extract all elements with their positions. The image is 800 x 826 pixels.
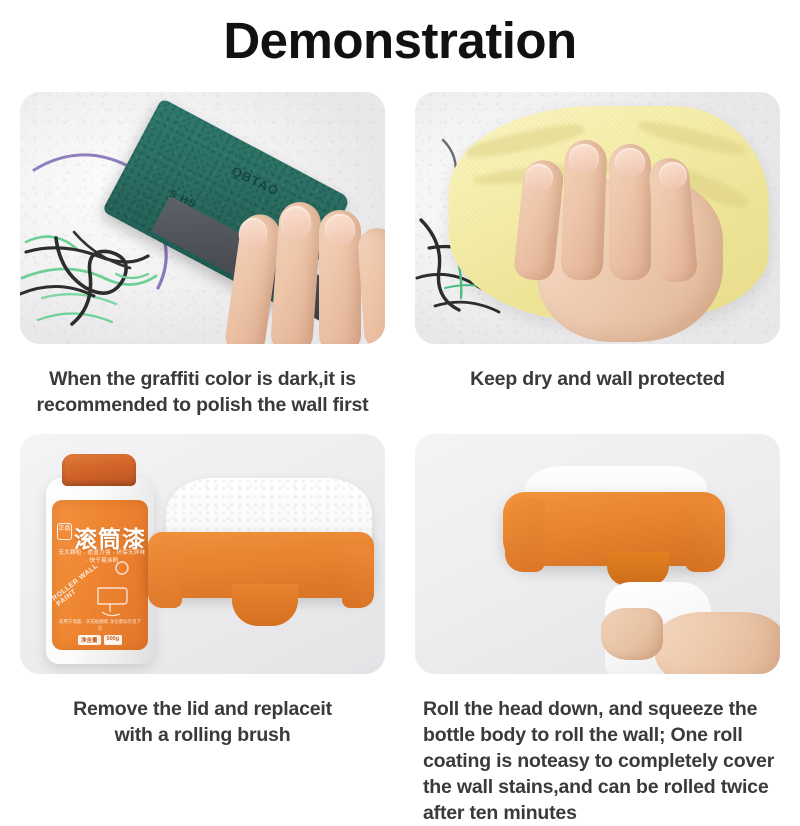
roller-arm-left	[148, 546, 182, 608]
label-roller-illustration	[90, 558, 142, 620]
roller-arm-left	[505, 498, 545, 572]
demo-row-top: QBTAO LED 5 HS	[20, 92, 780, 418]
weight-value: 500g	[104, 635, 123, 645]
caption-replace-lid: Remove the lid and replaceit with a roll…	[20, 674, 385, 748]
roller-arm-right	[685, 496, 725, 572]
demo-cell-polish-wall: QBTAO LED 5 HS	[20, 92, 385, 418]
demo-cell-replace-lid: 正品 滚筒漆 无大颗粒 · 遮盖力强 · 环保无异味 · 快干易涂刷 ROLLE…	[20, 434, 385, 826]
caption-line: the wall stains,and can be rolled twice	[423, 774, 778, 800]
caption-line: coating is noteasy to completely cover	[423, 748, 778, 774]
thumb	[601, 608, 663, 660]
caption-polish-wall: When the graffiti color is dark,it is re…	[20, 344, 385, 418]
fingernail-ring	[325, 214, 355, 244]
photo-polish-wall: QBTAO LED 5 HS	[20, 92, 385, 344]
demo-row-bottom: 正品 滚筒漆 无大颗粒 · 遮盖力强 · 环保无异味 · 快干易涂刷 ROLLE…	[20, 434, 780, 826]
photo-roll-the-wall	[415, 434, 780, 674]
caption-line: Roll the head down, and squeeze the	[423, 696, 778, 722]
page-title: Demonstration	[0, 10, 800, 72]
photo-keep-dry	[415, 92, 780, 344]
caption-line: after ten minutes	[423, 800, 778, 826]
caption-line: Remove the lid and replaceit	[22, 696, 383, 722]
weight-tag: 净含量	[78, 635, 101, 645]
hand-wiping-wall	[511, 132, 761, 344]
hand-holding-sponge	[219, 162, 385, 344]
label-badge: 正品	[57, 523, 72, 540]
caption-line: Keep dry and wall protected	[417, 366, 778, 392]
roller-neck	[607, 552, 669, 586]
caption-line: bottle body to roll the wall; One roll	[423, 722, 778, 748]
caption-roll-the-wall: Roll the head down, and squeeze the bott…	[415, 674, 780, 826]
roller-neck	[232, 584, 298, 626]
caption-line: with a rolling brush	[22, 722, 383, 748]
label-footer-text: 适用于墙面、天花板翻新 净含量标示见下方	[58, 618, 142, 632]
bottle-cap	[62, 454, 136, 486]
hand-squeezing-bottle	[601, 582, 780, 674]
roller-applicator-on-wall	[503, 466, 725, 594]
roller-brush-head	[148, 476, 374, 646]
demo-panel-grid: QBTAO LED 5 HS	[0, 92, 800, 826]
fingernail-ring	[615, 148, 645, 176]
bottle-label: 正品 滚筒漆 无大颗粒 · 遮盖力强 · 环保无异味 · 快干易涂刷 ROLLE…	[52, 500, 148, 650]
palm	[655, 612, 780, 674]
fingernail-middle	[569, 143, 600, 172]
label-weight-group: 净含量 500g	[78, 635, 122, 645]
caption-line: When the graffiti color is dark,it is	[22, 366, 383, 392]
caption-line: recommended to polish the wall first	[22, 392, 383, 418]
caption-keep-dry: Keep dry and wall protected	[415, 344, 780, 392]
demonstration-infographic: Demonstration	[0, 0, 800, 800]
demo-cell-keep-dry: Keep dry and wall protected	[415, 92, 780, 418]
roller-arm-right	[342, 544, 374, 608]
paint-bottle: 正品 滚筒漆 无大颗粒 · 遮盖力强 · 环保无异味 · 快干易涂刷 ROLLE…	[40, 452, 160, 664]
demo-cell-roll-the-wall: Roll the head down, and squeeze the bott…	[415, 434, 780, 826]
photo-replace-lid: 正品 滚筒漆 无大颗粒 · 遮盖力强 · 环保无异味 · 快干易涂刷 ROLLE…	[20, 434, 385, 674]
finger-pinky	[357, 227, 385, 344]
